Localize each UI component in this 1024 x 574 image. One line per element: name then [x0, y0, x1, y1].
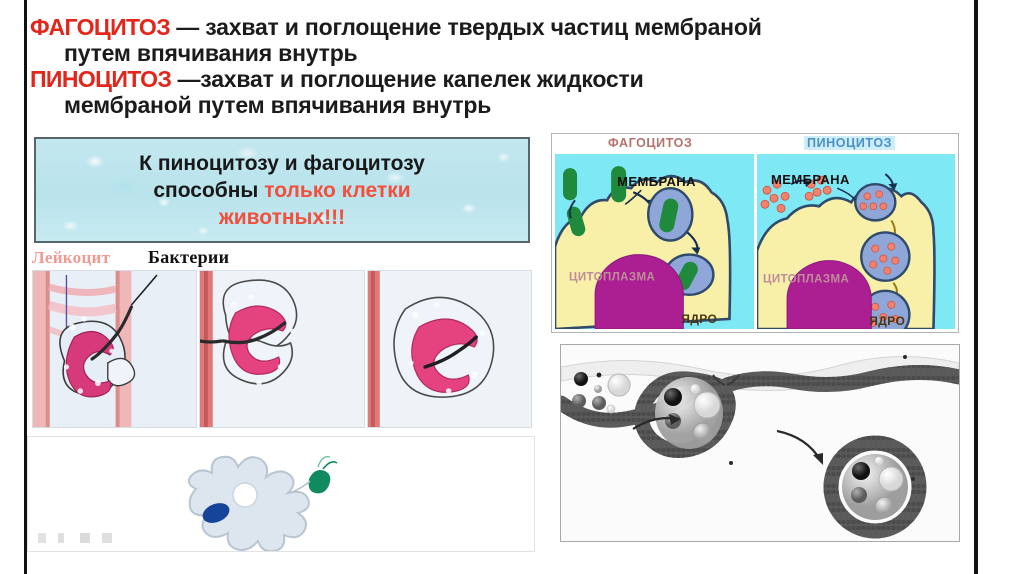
callout-line-1: К пиноцитозу и фагоцитозу [139, 150, 425, 177]
callout-line-2-black: способны [153, 179, 264, 202]
callout-box: К пиноцитозу и фагоцитозу способны тольк… [34, 137, 530, 243]
term-pinocytosis: ПИНОЦИТОЗ [30, 66, 171, 92]
endocytosis-comparison-diagram: ФАГОЦИТОЗ ПИНОЦИТОЗ [551, 133, 959, 333]
leukocyte-stage-1 [32, 270, 197, 428]
svg-text:ЯДРО: ЯДРО [869, 314, 905, 328]
definition-text-phagocytosis: — захват и поглощение твердых частиц мем… [176, 14, 761, 40]
diagram-body: МЕМБРАНА ЦИТОПЛАЗМА ЯДРО [555, 154, 955, 329]
leukocyte-stage-panels [32, 270, 532, 428]
definition-line-pinocytosis-cont: мембраной путем впячивания внутрь [30, 92, 960, 118]
svg-text:МЕМБРАНА: МЕМБРАНА [617, 174, 696, 189]
diagram-title-phagocytosis: ФАГОЦИТОЗ [608, 136, 692, 150]
leukocyte-stage-3 [367, 270, 532, 428]
term-phagocytosis: ФАГОЦИТОЗ [30, 14, 170, 40]
diagram-title-pinocytosis: ПИНОЦИТОЗ [804, 136, 895, 150]
definition-text-pinocytosis: —захват и поглощение капелек жидкости [177, 66, 643, 92]
svg-text:ЦИТОПЛАЗМА: ЦИТОПЛАЗМА [569, 272, 655, 284]
label-bacteria: Бактерии [148, 247, 229, 268]
svg-text:МЕМБРАНА: МЕМБРАНА [771, 172, 850, 187]
label-leukocyte: Лейкоцит [32, 248, 110, 268]
right-frame-rule [974, 0, 978, 574]
diagram-half-phagocytosis: МЕМБРАНА ЦИТОПЛАЗМА ЯДРО [555, 154, 754, 329]
leukocyte-phagocytosis-sequence: Лейкоцит Бактерии [27, 248, 535, 434]
header-definitions: ФАГОЦИТОЗ — захват и поглощение твердых … [30, 14, 960, 118]
faint-artifact-marks [38, 533, 158, 543]
diagram-half-pinocytosis: МЕМБРАНА ЦИТОПЛАЗМА ЯДРО [757, 154, 956, 329]
amoeba-illustration-panel [27, 436, 535, 552]
slide-canvas: ФАГОЦИТОЗ — захват и поглощение твердых … [0, 0, 1024, 574]
leukocyte-label-row: Лейкоцит Бактерии [27, 248, 535, 270]
callout-line-3: животных!!! [219, 204, 345, 231]
callout-line-2-red: только клетки [264, 179, 410, 202]
definition-line-phagocytosis-cont: путем впячивания внутрь [30, 40, 960, 66]
callout-line-2: способны только клетки [153, 177, 410, 204]
diagram-title-row: ФАГОЦИТОЗ ПИНОЦИТОЗ [552, 134, 958, 154]
membrane-endocytosis-micrograph [560, 344, 960, 542]
definition-line-phagocytosis: ФАГОЦИТОЗ — захват и поглощение твердых … [30, 14, 960, 40]
svg-text:ЯДРО: ЯДРО [681, 312, 717, 326]
definition-line-pinocytosis: ПИНОЦИТОЗ —захват и поглощение капелек ж… [30, 66, 960, 92]
leukocyte-stage-2 [199, 270, 364, 428]
svg-text:ЦИТОПЛАЗМА: ЦИТОПЛАЗМА [763, 274, 849, 286]
